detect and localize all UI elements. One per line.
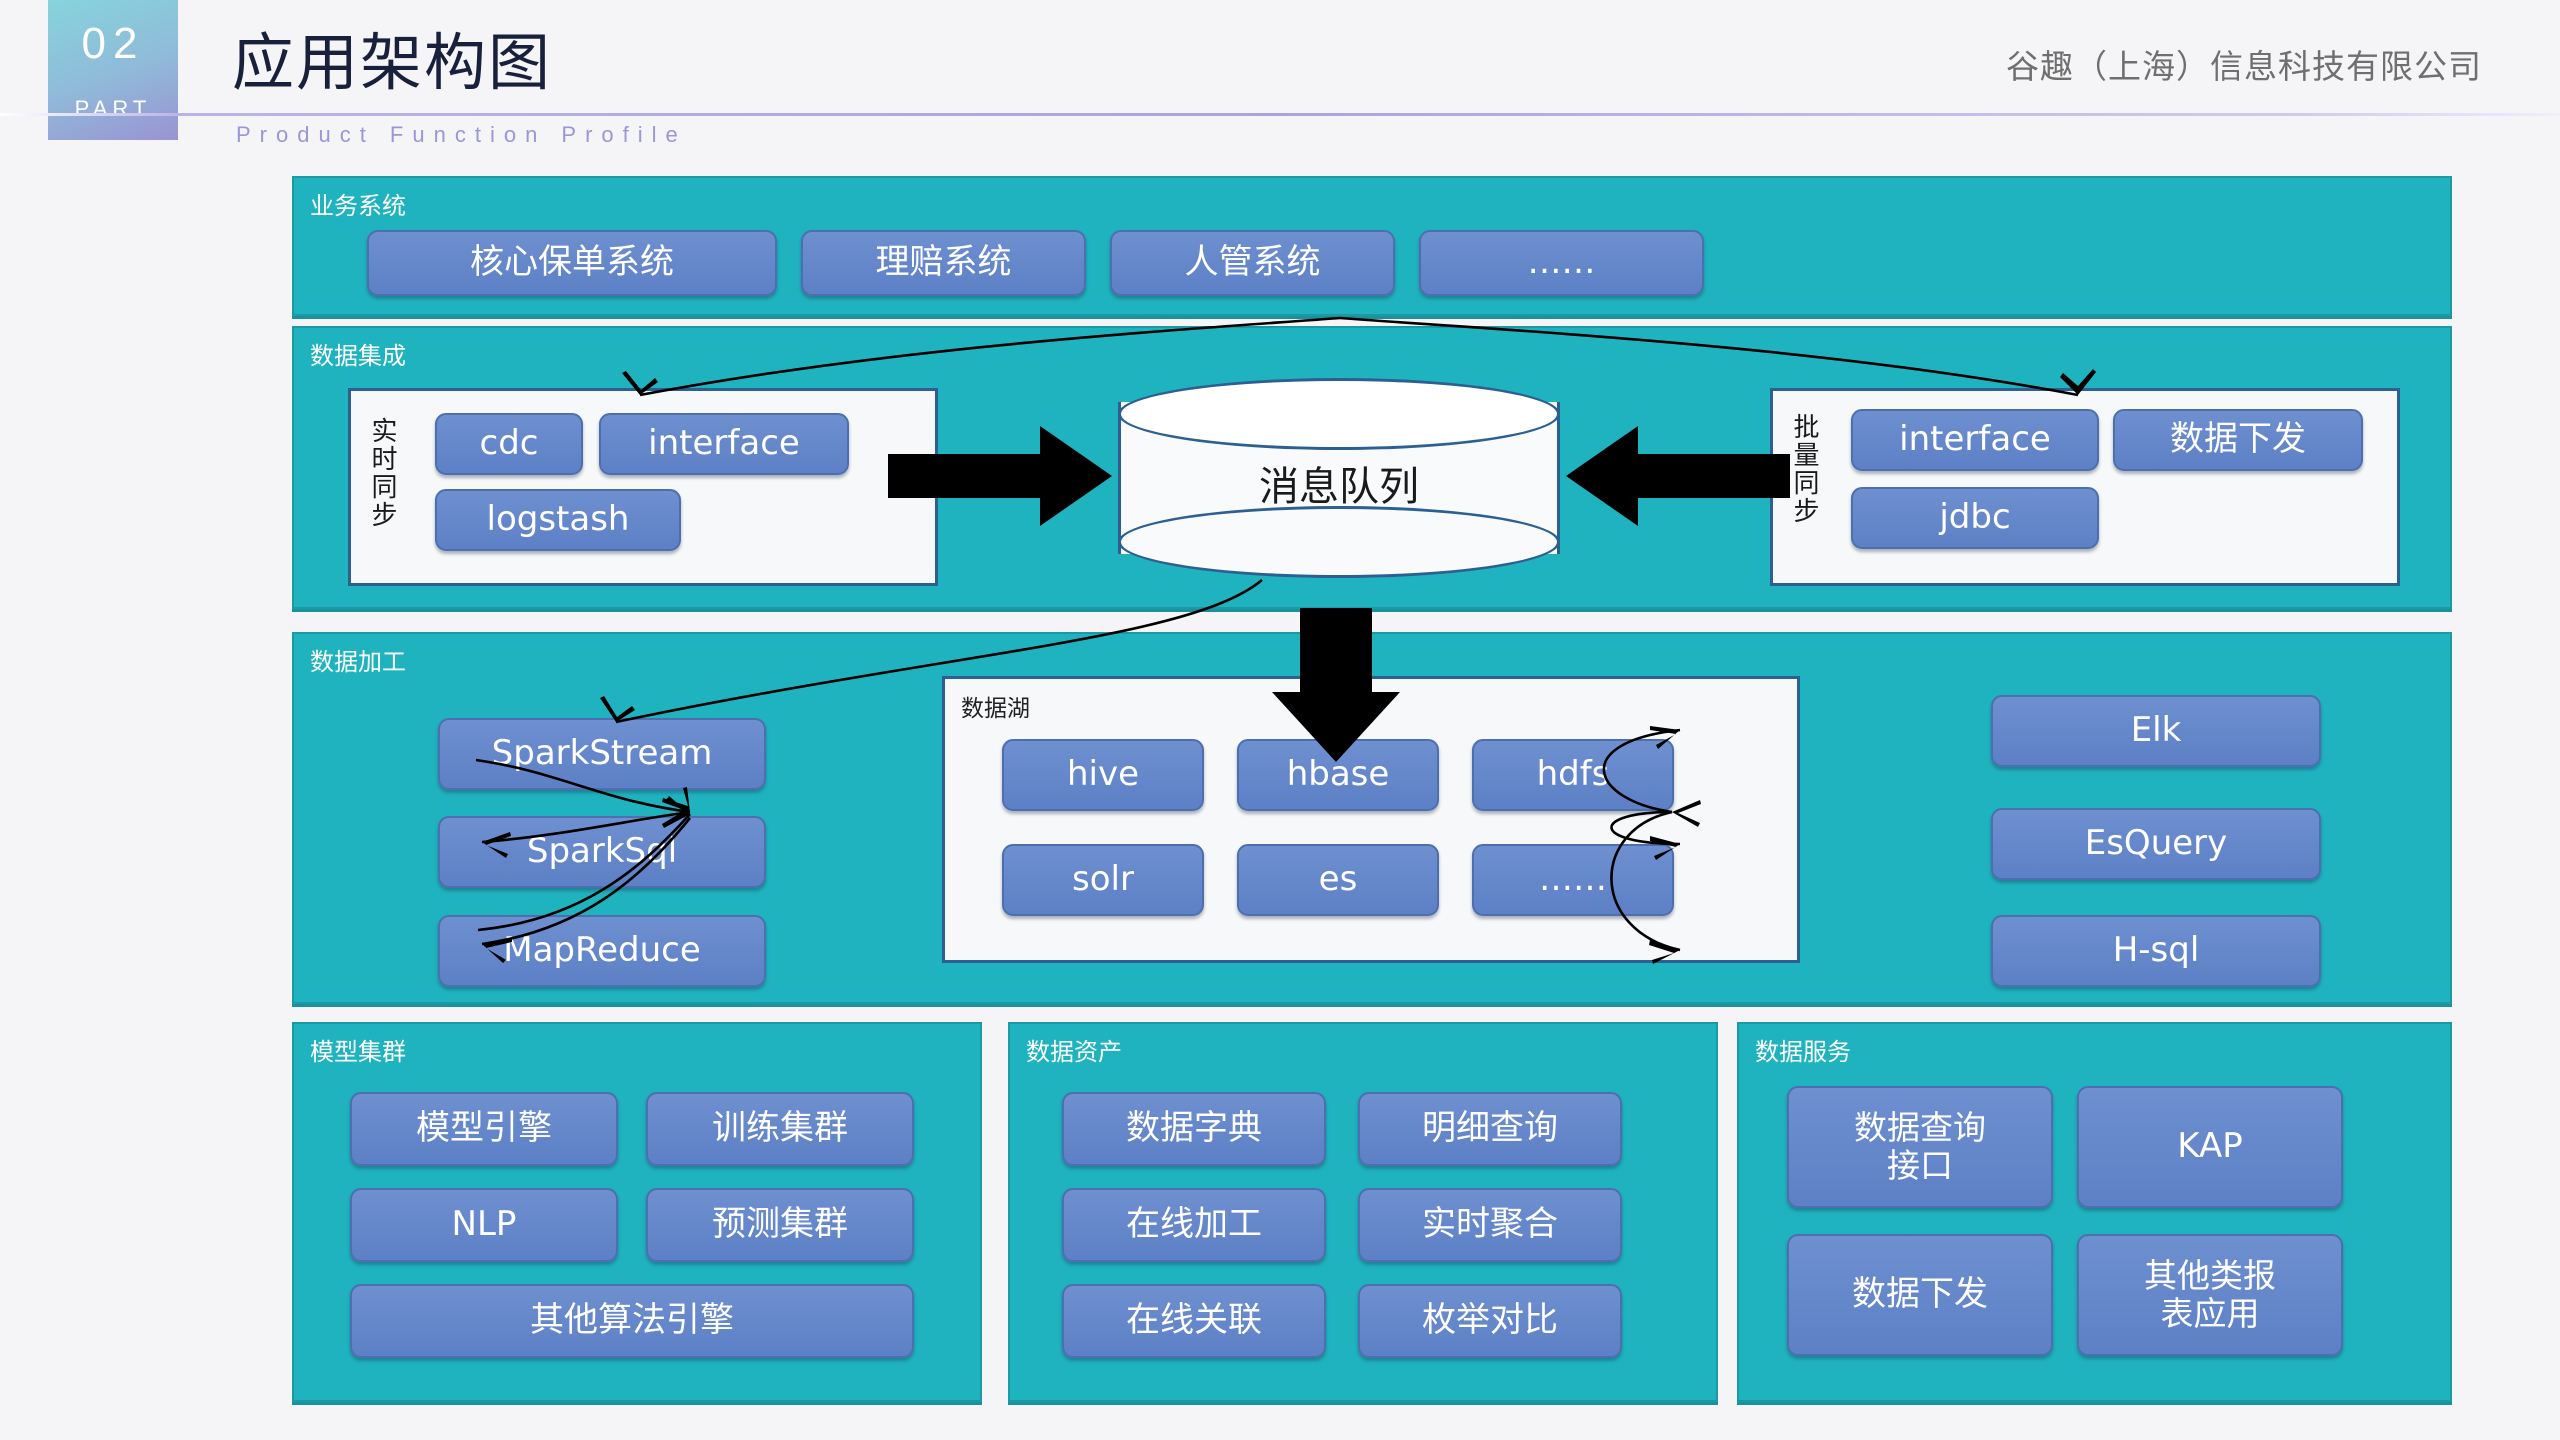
node-label: Elk xyxy=(2131,711,2182,750)
page-header: 02 PART 应用架构图 Product Function Profile 谷… xyxy=(0,0,2560,165)
section-label-data-assets: 数据资产 xyxy=(1026,1032,1122,1067)
node-data-distribution-service[interactable]: 数据下发 xyxy=(1787,1234,2053,1356)
node-other-report-apps[interactable]: 其他类报 表应用 xyxy=(2077,1234,2343,1356)
node-label: 核心保单系统 xyxy=(470,243,674,282)
node-label: 数据下发 xyxy=(1852,1275,1988,1314)
node-label: KAP xyxy=(2177,1127,2242,1166)
page-title: 应用架构图 xyxy=(232,12,552,102)
node-label: NLP xyxy=(452,1205,517,1244)
node-data-query-interface[interactable]: 数据查询 接口 xyxy=(1787,1086,2053,1208)
node-detail-query[interactable]: 明细查询 xyxy=(1358,1092,1622,1166)
section-data-processing: 数据加工 SparkStream SparkSql MapReduce 数据湖 … xyxy=(292,632,2452,1004)
node-cdc[interactable]: cdc xyxy=(435,413,583,475)
node-label: 理赔系统 xyxy=(876,243,1012,282)
node-label: SparkStream xyxy=(492,734,713,773)
batch-sync-vertical-label: 批量同步 xyxy=(1791,413,1817,525)
node-training-cluster[interactable]: 训练集群 xyxy=(646,1092,914,1166)
message-queue-cylinder: 消息队列 xyxy=(1118,378,1560,578)
page-subtitle: Product Function Profile xyxy=(236,122,687,148)
node-model-engine[interactable]: 模型引擎 xyxy=(350,1092,618,1166)
cylinder-bottom-ellipse xyxy=(1118,506,1560,578)
node-label: interface xyxy=(1899,420,2051,459)
node-label: 模型引擎 xyxy=(416,1109,552,1148)
node-online-processing[interactable]: 在线加工 xyxy=(1062,1188,1326,1262)
node-label: 预测集群 xyxy=(712,1205,848,1244)
node-label: H-sql xyxy=(2113,931,2200,970)
node-label: …… xyxy=(1528,243,1596,282)
node-label: …… xyxy=(1539,860,1607,899)
node-hsql[interactable]: H-sql xyxy=(1991,915,2321,987)
node-jdbc[interactable]: jdbc xyxy=(1851,487,2099,549)
node-hdfs[interactable]: hdfs xyxy=(1472,739,1674,811)
node-label: 数据字典 xyxy=(1126,1109,1262,1148)
node-label: 其他类报 表应用 xyxy=(2144,1257,2276,1333)
node-label: SparkSql xyxy=(527,832,677,871)
node-interface-batch[interactable]: interface xyxy=(1851,409,2099,471)
section-label-data-services: 数据服务 xyxy=(1755,1032,1851,1067)
node-elk[interactable]: Elk xyxy=(1991,695,2321,767)
node-label: 在线关联 xyxy=(1126,1301,1262,1340)
node-kap[interactable]: KAP xyxy=(2077,1086,2343,1208)
node-label: 人管系统 xyxy=(1185,243,1321,282)
node-realtime-aggregation[interactable]: 实时聚合 xyxy=(1358,1188,1622,1262)
node-sparksql[interactable]: SparkSql xyxy=(438,816,766,888)
card-batch-sync: 批量同步 interface 数据下发 jdbc xyxy=(1770,388,2400,586)
section-label-data-integration: 数据集成 xyxy=(310,336,406,371)
section-business-systems: 业务系统 核心保单系统 理赔系统 人管系统 …… xyxy=(292,176,2452,316)
node-label: hive xyxy=(1067,755,1139,794)
node-label: logstash xyxy=(487,500,630,539)
node-core-policy-system[interactable]: 核心保单系统 xyxy=(367,230,777,296)
node-label: cdc xyxy=(480,424,539,463)
node-label: 在线加工 xyxy=(1126,1205,1262,1244)
node-data-distribution-batch[interactable]: 数据下发 xyxy=(2113,409,2363,471)
node-label: 数据下发 xyxy=(2170,420,2306,459)
message-queue-label: 消息队列 xyxy=(1118,454,1560,512)
header-divider xyxy=(0,113,2560,116)
node-esquery[interactable]: EsQuery xyxy=(1991,808,2321,880)
section-label-model-cluster: 模型集群 xyxy=(310,1032,406,1067)
node-business-more[interactable]: …… xyxy=(1419,230,1704,296)
node-data-dictionary[interactable]: 数据字典 xyxy=(1062,1092,1326,1166)
node-logstash[interactable]: logstash xyxy=(435,489,681,551)
node-label: es xyxy=(1319,860,1358,899)
node-label: 明细查询 xyxy=(1422,1109,1558,1148)
node-label: hdfs xyxy=(1537,755,1610,794)
section-data-assets: 数据资产 数据字典 明细查询 在线加工 实时聚合 在线关联 枚举对比 xyxy=(1008,1022,1718,1402)
node-label: 实时聚合 xyxy=(1422,1205,1558,1244)
section-model-cluster: 模型集群 模型引擎 训练集群 NLP 预测集群 其他算法引擎 xyxy=(292,1022,982,1402)
node-label: solr xyxy=(1072,860,1134,899)
cylinder-top-ellipse xyxy=(1118,378,1560,450)
node-label: hbase xyxy=(1287,755,1390,794)
node-label: jdbc xyxy=(1939,498,2010,537)
section-data-services: 数据服务 数据查询 接口 KAP 数据下发 其他类报 表应用 xyxy=(1737,1022,2452,1402)
card-realtime-sync: 实时同步 cdc interface logstash xyxy=(348,388,938,586)
node-sparkstream[interactable]: SparkStream xyxy=(438,718,766,790)
node-solr[interactable]: solr xyxy=(1002,844,1204,916)
part-badge: 02 PART xyxy=(48,0,178,140)
node-interface-realtime[interactable]: interface xyxy=(599,413,849,475)
node-claims-system[interactable]: 理赔系统 xyxy=(801,230,1086,296)
data-lake-label: 数据湖 xyxy=(961,689,1030,723)
node-label: 数据查询 接口 xyxy=(1854,1109,1986,1185)
company-name: 谷趣（上海）信息科技有限公司 xyxy=(2006,40,2482,88)
node-hr-system[interactable]: 人管系统 xyxy=(1110,230,1395,296)
node-label: 其他算法引擎 xyxy=(530,1301,734,1340)
node-nlp[interactable]: NLP xyxy=(350,1188,618,1262)
realtime-sync-vertical-label: 实时同步 xyxy=(369,417,395,529)
node-hive[interactable]: hive xyxy=(1002,739,1204,811)
part-number: 02 xyxy=(82,22,145,66)
section-label-data-processing: 数据加工 xyxy=(310,642,406,677)
node-enumeration-comparison[interactable]: 枚举对比 xyxy=(1358,1284,1622,1358)
node-hbase[interactable]: hbase xyxy=(1237,739,1439,811)
node-label: MapReduce xyxy=(503,931,701,970)
node-other-algorithm-engine[interactable]: 其他算法引擎 xyxy=(350,1284,914,1358)
part-word-label: PART xyxy=(75,96,152,122)
node-label: 枚举对比 xyxy=(1422,1301,1558,1340)
node-label: 训练集群 xyxy=(712,1109,848,1148)
node-es[interactable]: es xyxy=(1237,844,1439,916)
card-data-lake: 数据湖 hive hbase hdfs solr es …… xyxy=(942,676,1800,963)
node-data-lake-more[interactable]: …… xyxy=(1472,844,1674,916)
node-label: interface xyxy=(648,424,800,463)
node-label: EsQuery xyxy=(2085,824,2228,863)
section-label-business-systems: 业务系统 xyxy=(310,186,406,221)
node-online-association[interactable]: 在线关联 xyxy=(1062,1284,1326,1358)
node-mapreduce[interactable]: MapReduce xyxy=(438,915,766,987)
node-prediction-cluster[interactable]: 预测集群 xyxy=(646,1188,914,1262)
